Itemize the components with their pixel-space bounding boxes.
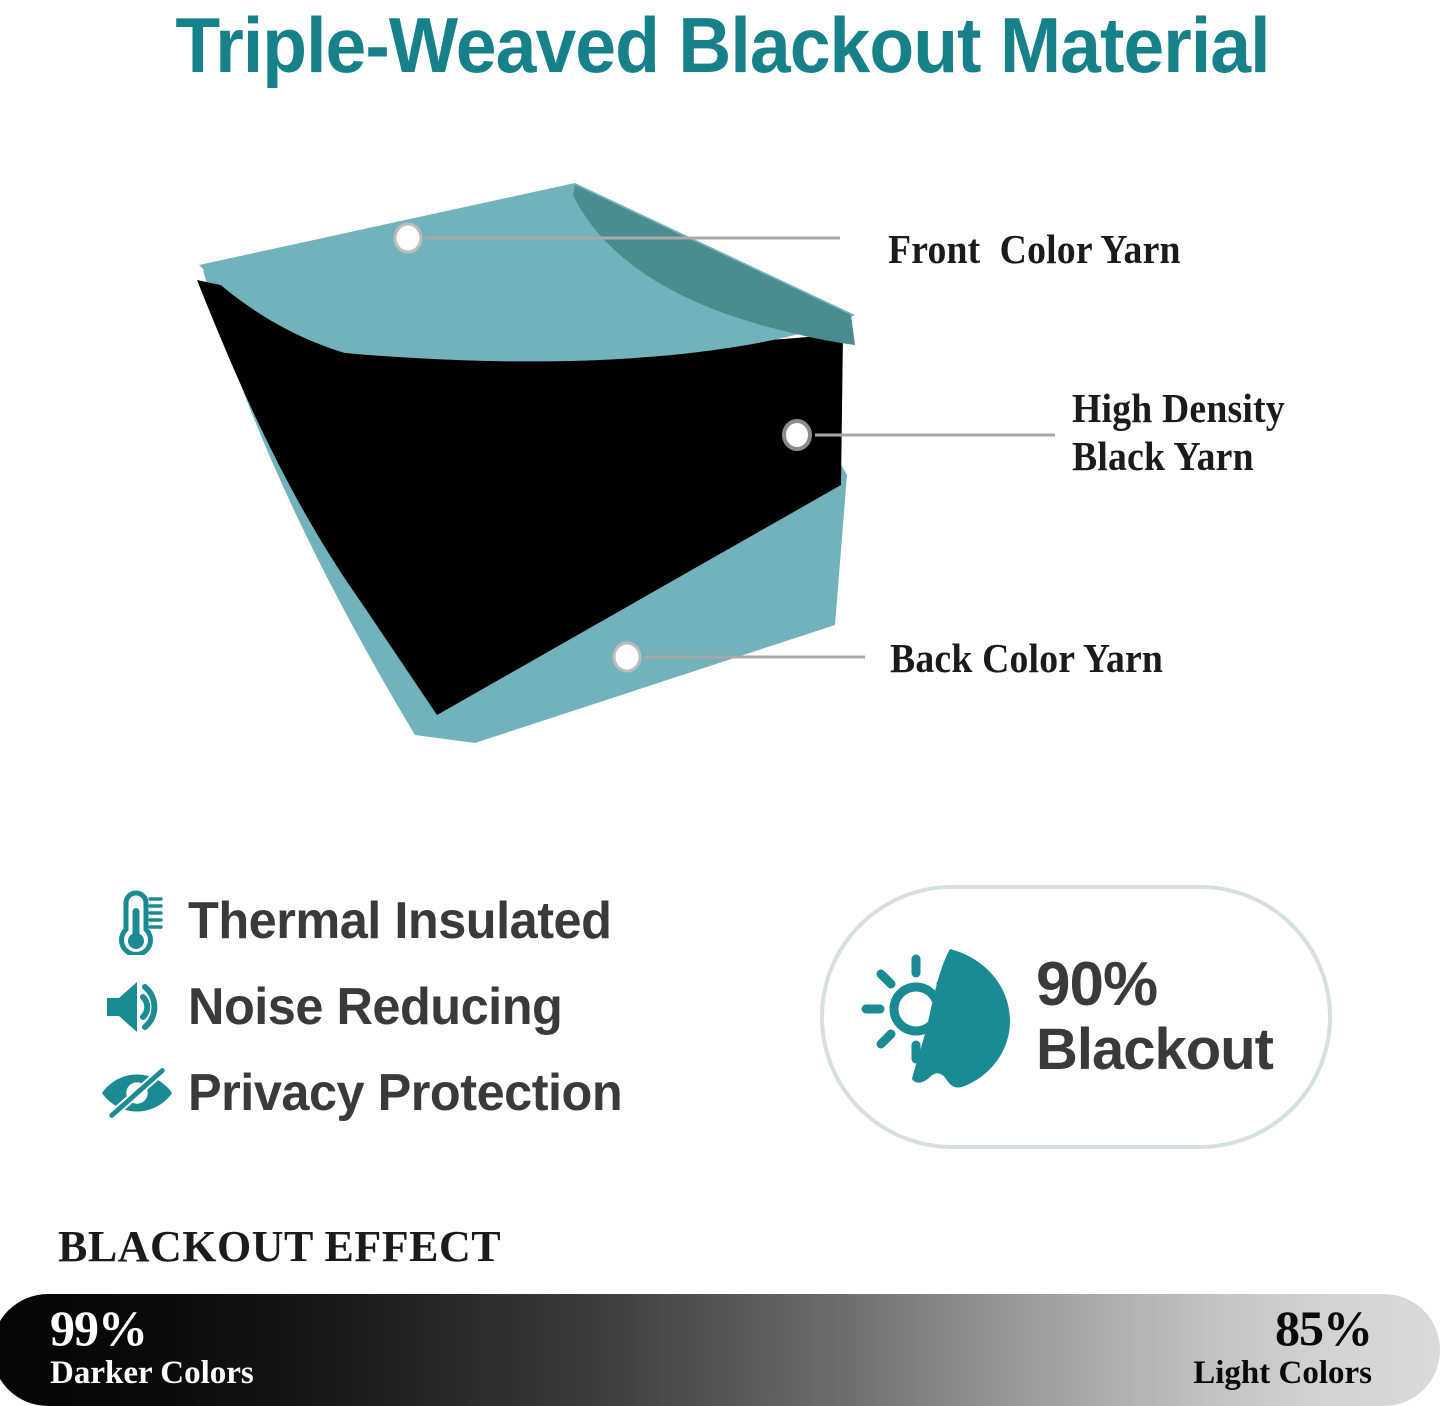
feature-row-privacy: Privacy Protection — [100, 1050, 760, 1136]
feature-row-thermal: Thermal Insulated — [100, 878, 760, 964]
badge-word: Blackout — [1036, 1018, 1273, 1082]
label-front-color-yarn: Front Color Yarn — [888, 225, 1181, 273]
badge-percent: 90% — [1036, 952, 1273, 1018]
blackout-stat-darker-caption: Darker Colors — [50, 1354, 254, 1392]
feature-list: Thermal Insulated Noise Reducing Privacy… — [100, 878, 760, 1136]
feature-label-thermal: Thermal Insulated — [188, 893, 611, 949]
badge-text: 90% Blackout — [1036, 952, 1273, 1082]
callout-dot-back — [614, 643, 640, 671]
blackout-stat-light-percent: 85% — [1193, 1302, 1372, 1354]
page-title: Triple-Weaved Blackout Material — [43, 0, 1401, 90]
callout-dot-front — [395, 224, 421, 252]
callout-dot-high-density — [784, 421, 810, 449]
eye-slash-icon — [100, 1056, 174, 1130]
thermometer-icon — [100, 884, 174, 958]
blackout-stat-darker: 99% Darker Colors — [50, 1302, 254, 1392]
blackout-badge: 90% Blackout — [820, 885, 1332, 1149]
feature-row-noise: Noise Reducing — [100, 964, 760, 1050]
blackout-effect-gradient-bar: 99% Darker Colors 85% Light Colors — [0, 1294, 1440, 1406]
blackout-effect-heading: BLACKOUT EFFECT — [58, 1222, 501, 1272]
blackout-stat-light-caption: Light Colors — [1193, 1354, 1372, 1392]
label-high-density-line1: High Density — [1072, 385, 1285, 431]
label-back-color-yarn: Back Color Yarn — [890, 634, 1163, 682]
sun-curtain-icon — [854, 933, 1022, 1101]
label-high-density-line2: Black Yarn — [1072, 433, 1254, 479]
feature-label-privacy: Privacy Protection — [188, 1065, 622, 1121]
speaker-sound-icon — [100, 970, 174, 1044]
blackout-stat-darker-percent: 99% — [50, 1302, 254, 1354]
blackout-stat-light: 85% Light Colors — [1193, 1302, 1372, 1392]
feature-label-noise: Noise Reducing — [188, 979, 562, 1035]
label-high-density-black-yarn: High DensityBlack Yarn — [1072, 384, 1285, 480]
